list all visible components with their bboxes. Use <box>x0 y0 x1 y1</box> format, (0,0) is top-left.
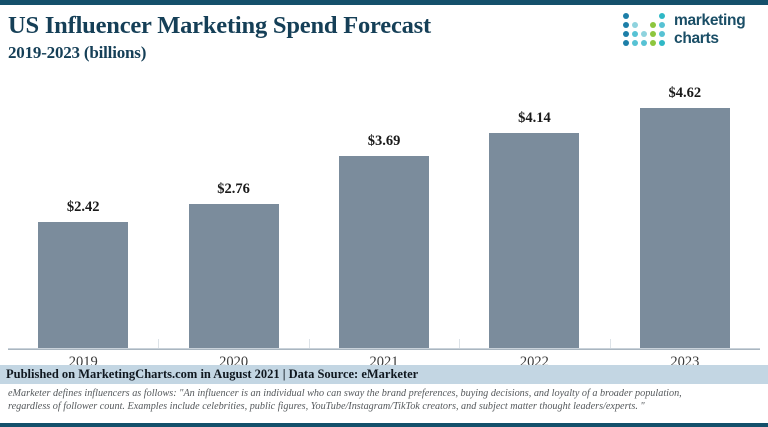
logo-dot-6 <box>632 22 638 28</box>
chart-card: US Influencer Marketing Spend Forecast 2… <box>0 0 768 427</box>
bar-value-label: $4.14 <box>518 110 551 127</box>
logo-dot-1 <box>632 13 638 19</box>
logo-dot-9 <box>659 22 665 28</box>
logo-dot-matrix-icon <box>622 12 667 48</box>
bar-2023[interactable] <box>640 108 730 348</box>
logo-dot-8 <box>650 22 656 28</box>
bar-2022[interactable] <box>489 133 579 348</box>
bar-group-2021: $3.692021 <box>309 67 459 348</box>
chart-plot-area: $2.422019$2.762020$3.692021$4.142022$4.6… <box>0 67 768 373</box>
bar-group-2022: $4.142022 <box>459 67 609 348</box>
bar-value-label: $2.76 <box>217 181 250 198</box>
chart-header: US Influencer Marketing Spend Forecast 2… <box>0 5 768 67</box>
logo-dot-13 <box>650 31 656 37</box>
bar-2019[interactable] <box>38 222 128 348</box>
marketing-charts-logo: marketing charts <box>622 10 764 58</box>
footnote-line-1: eMarketer defines influencers as follows… <box>8 387 760 400</box>
page-title: US Influencer Marketing Spend Forecast <box>8 12 431 40</box>
logo-dot-11 <box>632 31 638 37</box>
bar-series: $2.422019$2.762020$3.692021$4.142022$4.6… <box>8 67 760 348</box>
logo-dot-15 <box>623 40 629 46</box>
x-axis-line-shadow <box>8 349 760 350</box>
bar-2020[interactable] <box>189 204 279 348</box>
logo-wordmark: marketing charts <box>674 12 745 48</box>
logo-dot-16 <box>632 40 638 46</box>
bar-group-2020: $2.762020 <box>158 67 308 348</box>
logo-wordmark-line1: marketing <box>674 12 745 30</box>
bar-value-label: $3.69 <box>368 133 401 150</box>
bar-group-2023: $4.622023 <box>610 67 760 348</box>
logo-dot-12 <box>641 31 647 37</box>
logo-dot-17 <box>641 40 647 46</box>
logo-dot-7 <box>641 22 647 28</box>
publication-text: Published on MarketingCharts.com in Augu… <box>0 367 418 382</box>
logo-dot-2 <box>641 13 647 19</box>
logo-dot-5 <box>623 22 629 28</box>
logo-dot-10 <box>623 31 629 37</box>
footnote-line-2: regardless of follower count. Examples i… <box>8 400 760 413</box>
logo-dot-14 <box>659 31 665 37</box>
chart-subtitle: 2019-2023 (billions) <box>8 43 146 63</box>
publication-band: Published on MarketingCharts.com in Augu… <box>0 365 768 384</box>
bar-group-2019: $2.422019 <box>8 67 158 348</box>
footnote: eMarketer defines influencers as follows… <box>0 384 768 421</box>
bar-value-label: $4.62 <box>669 85 702 102</box>
logo-dot-18 <box>650 40 656 46</box>
logo-dot-0 <box>623 13 629 19</box>
logo-dot-19 <box>659 40 665 46</box>
bar-value-label: $2.42 <box>67 199 100 216</box>
logo-dot-4 <box>659 13 665 19</box>
logo-dot-3 <box>650 13 656 19</box>
logo-wordmark-line2: charts <box>674 30 745 48</box>
bar-2021[interactable] <box>339 156 429 348</box>
